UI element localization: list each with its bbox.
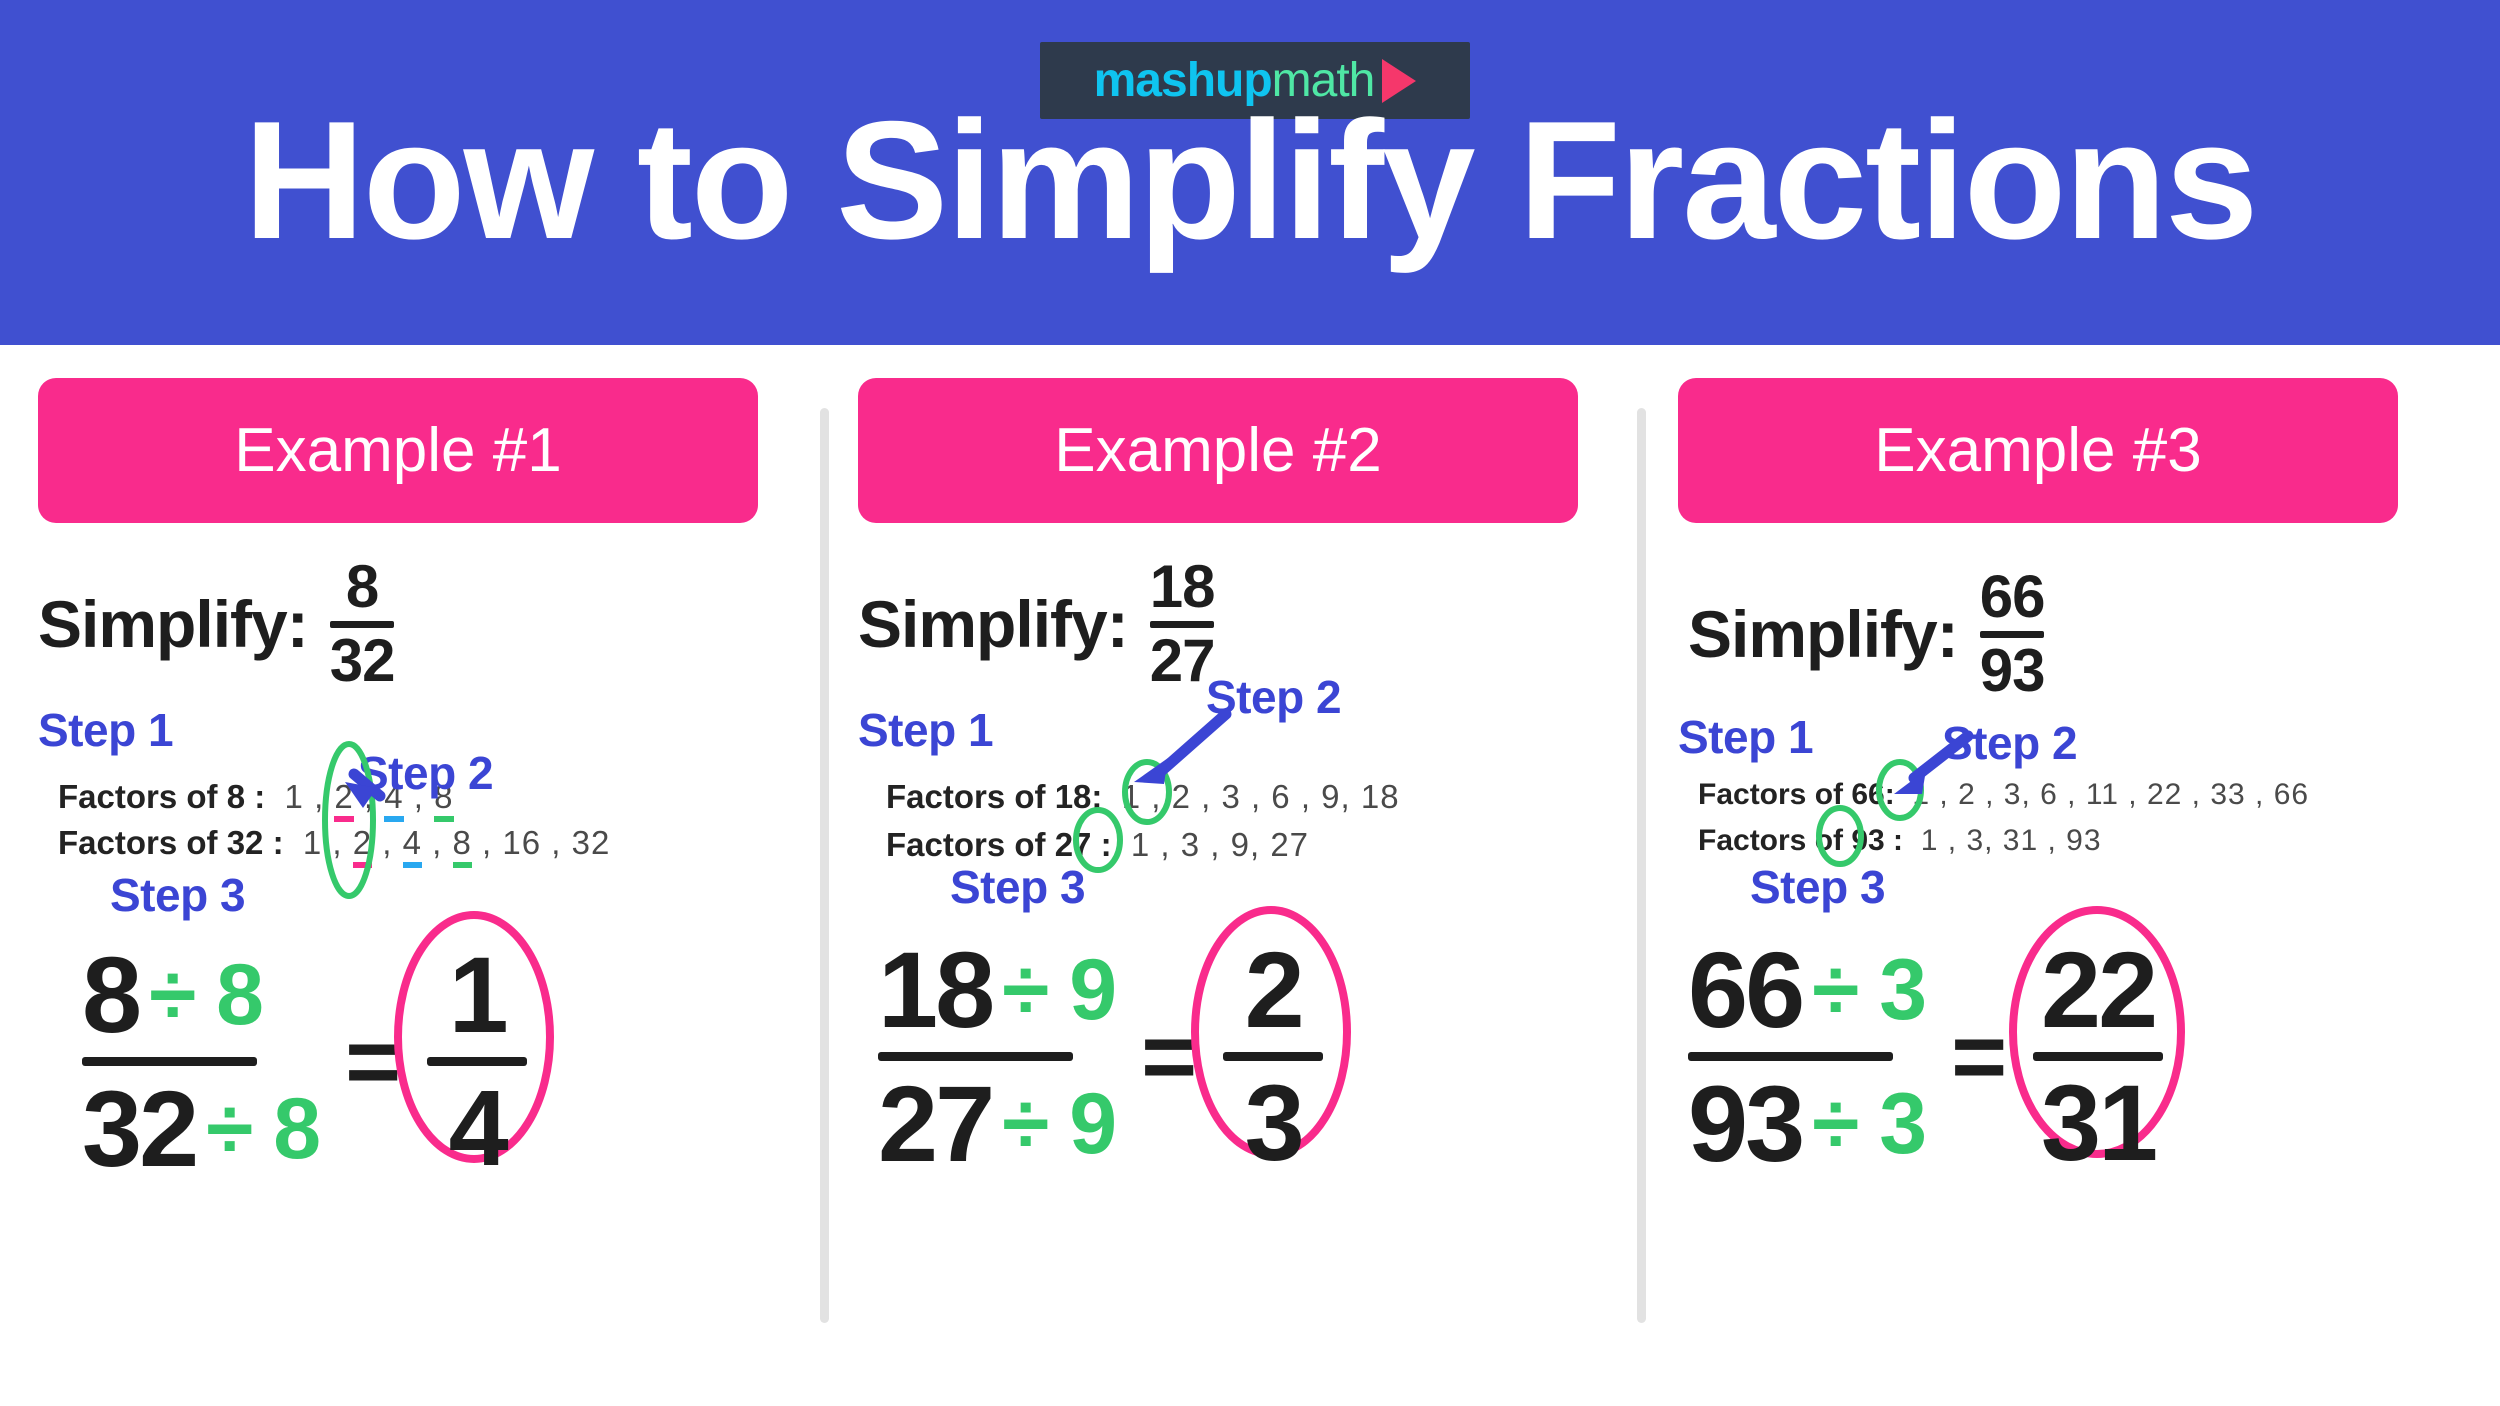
example-column-2: Example #2 Simplify: 18 27 Step 1 Factor…	[858, 378, 1648, 1338]
work-divisor-bottom-3: ÷ 3	[1812, 1079, 1925, 1169]
step1-label-2: Step 1	[858, 703, 993, 757]
answer-wrap-1: 1 4	[427, 941, 527, 1182]
example-header-1: Example #1	[38, 378, 758, 523]
answer-wrap-2: 2 3	[1223, 936, 1323, 1177]
problem-numerator-1: 8	[346, 558, 378, 617]
work-divisor-bottom-1: ÷ 8	[206, 1084, 319, 1174]
factor-row-3-1: Factors of 66: 1 , 2 , 3, 6 , 11 , 22 , …	[1698, 778, 2309, 812]
factor-list-1-2: 1 , 2 , 4 , 8 , 16 , 32	[293, 824, 611, 868]
step2-label-1: Step 2	[358, 746, 493, 800]
factor-row-2-2: Factors of 27 : 1 , 3 , 9, 27	[886, 826, 1309, 864]
answer-wrap-3: 22 31	[2033, 936, 2163, 1177]
work-fraction-1: 8 ÷ 8 32 ÷ 8	[82, 938, 319, 1186]
factor-lead-1-1: Factors of 8 :	[58, 778, 265, 815]
answer-denominator-3: 31	[2041, 1069, 2155, 1177]
work-fraction-bar-3	[1688, 1052, 1893, 1061]
infographic-page: mashup math How to Simplify Fractions Ex…	[0, 0, 2500, 1406]
step3-label-2: Step 3	[950, 860, 1085, 914]
answer-bar-3	[2033, 1052, 2163, 1061]
problem-denominator-1: 32	[330, 632, 395, 691]
problem-numerator-2: 18	[1150, 558, 1215, 617]
work-denominator-line-1: 32 ÷ 8	[82, 1072, 319, 1185]
work-numerator-line-3: 66 ÷ 3	[1688, 933, 1925, 1046]
work-fraction-bar-2	[878, 1052, 1073, 1061]
simplify-label-1: Simplify:	[38, 586, 308, 662]
problem-denominator-2: 27	[1150, 632, 1215, 691]
example-header-2: Example #2	[858, 378, 1578, 523]
answer-fraction-2: 2 3	[1223, 936, 1323, 1177]
factor-row-3-2: Factors of 93 : 1 , 3, 31 , 93	[1698, 824, 2102, 858]
work-divisor-top-2: ÷ 9	[1002, 945, 1115, 1035]
problem-fraction-2: 18 27	[1150, 558, 1215, 691]
step3-label-1: Step 3	[110, 868, 245, 922]
simplify-label-3: Simplify:	[1688, 596, 1958, 672]
work-denominator-2: 27	[878, 1067, 992, 1180]
work-denominator-line-2: 27 ÷ 9	[878, 1067, 1115, 1180]
answer-numerator-1: 1	[449, 941, 506, 1049]
work-fraction-2: 18 ÷ 9 27 ÷ 9	[878, 933, 1115, 1181]
work-divisor-top-3: ÷ 3	[1812, 945, 1925, 1035]
work-fraction-bar-1	[82, 1057, 257, 1066]
simplify-prompt-1: Simplify: 8 32	[38, 558, 394, 691]
equals-sign-2: =	[1141, 1009, 1197, 1105]
example-header-3: Example #3	[1678, 378, 2398, 523]
example-column-3: Example #3 Simplify: 66 93 Step 1 Factor…	[1678, 378, 2468, 1338]
factor-row-2-1: Factors of 18: 1 , 2 , 3 , 6 , 9, 18	[886, 778, 1400, 816]
step2-label-3: Step 2	[1942, 716, 2077, 770]
problem-fraction-3: 66 93	[1980, 568, 2045, 701]
answer-fraction-3: 22 31	[2033, 936, 2163, 1177]
factor-list-2-1: 1 , 2 , 3 , 6 , 9, 18	[1112, 778, 1400, 815]
factor-list-3-2: 1 , 3, 31 , 93	[1911, 824, 2101, 857]
problem-denominator-3: 93	[1980, 642, 2045, 701]
simplify-prompt-3: Simplify: 66 93	[1688, 568, 2044, 701]
example-column-1: Example #1 Simplify: 8 32 Step 1 Factors…	[38, 378, 828, 1338]
header-banner: mashup math How to Simplify Fractions	[0, 0, 2500, 345]
page-title: How to Simplify Fractions	[0, 96, 2500, 264]
work-denominator-1: 32	[82, 1072, 196, 1185]
factor-lead-3-2: Factors of 93 :	[1698, 824, 1903, 857]
work-numerator-2: 18	[878, 933, 992, 1046]
work-fraction-3: 66 ÷ 3 93 ÷ 3	[1688, 933, 1925, 1181]
factor-list-3-1: 1 , 2 , 3, 6 , 11 , 22 , 33 , 66	[1903, 778, 2309, 811]
answer-numerator-2: 2	[1245, 936, 1302, 1044]
work-numerator-line-2: 18 ÷ 9	[878, 933, 1115, 1046]
step1-label-1: Step 1	[38, 703, 173, 757]
step3-work-1: 8 ÷ 8 32 ÷ 8 = 1 4	[82, 938, 527, 1186]
equals-sign-3: =	[1951, 1009, 2007, 1105]
step3-work-2: 18 ÷ 9 27 ÷ 9 = 2 3	[878, 933, 1323, 1181]
answer-numerator-3: 22	[2041, 936, 2155, 1044]
answer-denominator-1: 4	[449, 1074, 506, 1182]
work-numerator-3: 66	[1688, 933, 1802, 1046]
factor-lead-1-2: Factors of 32 :	[58, 824, 284, 861]
work-divisor-top-1: ÷ 8	[149, 950, 262, 1040]
work-denominator-3: 93	[1688, 1067, 1802, 1180]
answer-denominator-2: 3	[1245, 1069, 1302, 1177]
factor-lead-2-1: Factors of 18:	[886, 778, 1102, 815]
work-numerator-1: 8	[82, 938, 139, 1051]
example-header-label-2: Example #2	[1054, 415, 1381, 486]
factor-lead-2-2: Factors of 27 :	[886, 826, 1112, 863]
equals-sign-1: =	[345, 1014, 401, 1110]
problem-numerator-3: 66	[1980, 568, 2045, 627]
simplify-prompt-2: Simplify: 18 27	[858, 558, 1214, 691]
factor-list-2-2: 1 , 3 , 9, 27	[1121, 826, 1309, 863]
example-header-label-1: Example #1	[234, 415, 561, 486]
factor-row-1-2: Factors of 32 : 1 , 2 , 4 , 8 , 16 , 32	[58, 824, 610, 862]
work-divisor-bottom-2: ÷ 9	[1002, 1079, 1115, 1169]
factor-lead-3-1: Factors of 66:	[1698, 778, 1895, 811]
example-header-label-3: Example #3	[1874, 415, 2201, 486]
problem-fraction-1: 8 32	[330, 558, 395, 691]
answer-bar-1	[427, 1057, 527, 1066]
step2-label-2: Step 2	[1206, 670, 1341, 724]
simplify-label-2: Simplify:	[858, 586, 1128, 662]
step3-label-3: Step 3	[1750, 860, 1885, 914]
answer-fraction-1: 1 4	[427, 941, 527, 1182]
answer-bar-2	[1223, 1052, 1323, 1061]
step1-label-3: Step 1	[1678, 710, 1813, 764]
work-denominator-line-3: 93 ÷ 3	[1688, 1067, 1925, 1180]
step3-work-3: 66 ÷ 3 93 ÷ 3 = 22 31	[1688, 933, 2163, 1181]
work-numerator-line-1: 8 ÷ 8	[82, 938, 319, 1051]
